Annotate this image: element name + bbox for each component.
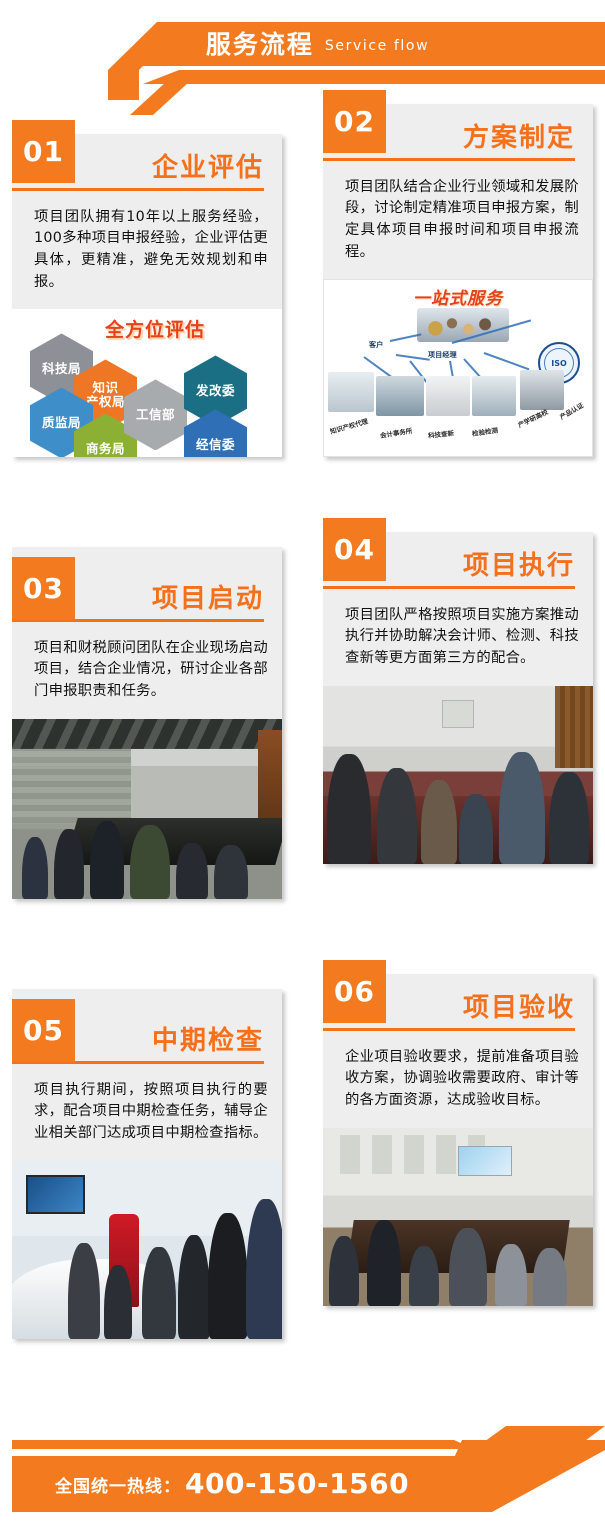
card-03-title: 项目启动: [152, 585, 264, 614]
hex-node-jingxin-wei: 经信委: [184, 409, 247, 457]
service-caption: 知识产权代理: [329, 416, 369, 436]
hexagon-infographic: 全方位评估 科技局 知识产权局 质监局 商务局 工信部 发改委 经信委: [12, 309, 282, 457]
photo-person: [130, 825, 170, 899]
header-band-secondary: [0, 70, 605, 84]
card-04-description: 项目团队严格按照项目实施方案推动执行并协助解决会计师、检测、科技查新等更方面第三…: [323, 589, 593, 686]
card-03-photo: [12, 719, 282, 899]
card-06-header: 06 项目验收 企业项目验收要求，提前准备项目验收方案，协调验收需要政府、审计等…: [323, 974, 593, 1128]
photo-projector-screen: [458, 1146, 512, 1176]
page-title: 服务流程: [206, 32, 314, 57]
photo-person: [421, 780, 457, 864]
photo-person: [68, 1243, 100, 1339]
photo-person: [533, 1248, 567, 1306]
footer-hotline-label: 全国统一热线：: [55, 1472, 181, 1497]
card-04-photo: [323, 686, 593, 864]
photo-display-screen: [26, 1175, 85, 1214]
service-caption: 科技查新: [427, 428, 454, 441]
card-01-title: 企业评估: [152, 154, 264, 183]
card-01-header: 01 企业评估 项目团队拥有10年以上服务经验，100多种项目申报经验，企业评估…: [12, 134, 282, 309]
card-05-step-badge: 05: [12, 999, 75, 1062]
card-04-header: 04 项目执行 项目团队严格按照项目实施方案推动执行并协助解决会计师、检测、科技…: [323, 532, 593, 686]
service-diagram: 一站式服务 客户 项目经理 ISO 知识产权代理 会计事务所: [323, 279, 593, 457]
photo-person: [176, 843, 208, 899]
process-card-05[interactable]: 05 中期检查 项目执行期间，按照项目执行的要求，配合项目中期检查任务，辅导企业…: [12, 989, 282, 1339]
card-06-photo: [323, 1128, 593, 1306]
page-header: 服务流程 Service flow: [0, 0, 605, 100]
card-02-step-badge: 02: [323, 90, 386, 153]
card-06-title: 项目验收: [463, 994, 575, 1023]
photo-ceiling: [12, 719, 282, 750]
service-arrow: [484, 353, 530, 371]
footer-hotline-number[interactable]: 400-150-1560: [185, 1470, 409, 1498]
photo-person: [329, 1236, 359, 1306]
process-card-06[interactable]: 06 项目验收 企业项目验收要求，提前准备项目验收方案，协调验收需要政府、审计等…: [323, 974, 593, 1306]
card-05-photo: [12, 1161, 282, 1339]
photo-air-conditioner: [442, 700, 474, 728]
card-04-step-badge: 04: [323, 518, 386, 581]
service-thumb: [472, 376, 516, 416]
photo-person: [327, 754, 371, 864]
photo-person: [499, 752, 545, 864]
card-02-header: 02 方案制定 项目团队结合企业行业领域和发展阶段，讨论制定精准项目申报方案，制…: [323, 104, 593, 279]
card-06-step-badge: 06: [323, 960, 386, 1023]
photo-person: [549, 772, 589, 864]
service-diagram-hero-photo: [417, 308, 509, 342]
service-node-customer: 客户: [369, 340, 383, 350]
card-01-step-badge: 01: [12, 120, 75, 183]
service-node-project-manager: 项目经理: [428, 350, 457, 360]
service-thumb: [520, 370, 564, 410]
photo-person: [214, 845, 248, 899]
card-02-description: 项目团队结合企业行业领域和发展阶段，讨论制定精准项目申报方案，制定具体项目申报时…: [323, 161, 593, 280]
header-title-group: 服务流程 Service flow: [0, 22, 605, 66]
service-diagram-title: 一站式服务: [324, 284, 592, 309]
photo-person: [367, 1220, 401, 1306]
photo-person: [495, 1244, 527, 1306]
footer-hotline-group: 全国统一热线： 400-150-1560: [55, 1456, 409, 1512]
photo-person: [104, 1265, 132, 1339]
service-thumb: [328, 372, 374, 412]
photo-person: [208, 1213, 248, 1339]
card-02-title: 方案制定: [463, 124, 575, 153]
service-arrow: [396, 354, 430, 361]
page-subtitle: Service flow: [325, 39, 429, 53]
card-02-media: 一站式服务 客户 项目经理 ISO 知识产权代理 会计事务所: [323, 279, 593, 457]
service-caption: 检验检测: [471, 425, 498, 439]
process-card-02[interactable]: 02 方案制定 项目团队结合企业行业领域和发展阶段，讨论制定精准项目申报方案，制…: [323, 104, 593, 457]
process-card-03[interactable]: 03 项目启动 项目和财税顾问团队在企业现场启动项目，结合企业情况，研讨企业各部…: [12, 547, 282, 899]
photo-person: [54, 829, 84, 899]
photo-person: [178, 1235, 210, 1339]
photo-person: [246, 1199, 282, 1339]
card-03-description: 项目和财税顾问团队在企业现场启动项目，结合企业情况，研讨企业各部门申报职责和任务…: [12, 622, 282, 719]
photo-person: [90, 821, 124, 899]
process-card-04[interactable]: 04 项目执行 项目团队严格按照项目实施方案推动执行并协助解决会计师、检测、科技…: [323, 532, 593, 864]
photo-person: [409, 1246, 439, 1306]
service-caption: 会计事务所: [379, 425, 413, 440]
card-05-header: 05 中期检查 项目执行期间，按照项目执行的要求，配合项目中期检查任务，辅导企业…: [12, 989, 282, 1161]
photo-person: [449, 1228, 487, 1306]
photo-person: [22, 837, 48, 899]
card-06-description: 企业项目验收要求，提前准备项目验收方案，协调验收需要政府、审计等的各方面资源，达…: [323, 1031, 593, 1128]
card-05-title: 中期检查: [152, 1027, 264, 1056]
card-03-step-badge: 03: [12, 557, 75, 620]
photo-person: [459, 794, 493, 864]
hexagon-infographic-title: 全方位评估: [105, 315, 205, 342]
card-04-title: 项目执行: [463, 552, 575, 581]
service-caption: 产学研高校: [516, 407, 550, 430]
service-thumb: [426, 376, 470, 416]
photo-person: [377, 768, 417, 864]
service-thumb: [376, 376, 424, 416]
page-footer: 全国统一热线： 400-150-1560: [0, 1426, 605, 1538]
card-01-media: 全方位评估 科技局 知识产权局 质监局 商务局 工信部 发改委 经信委: [12, 309, 282, 457]
card-03-header: 03 项目启动 项目和财税顾问团队在企业现场启动项目，结合企业情况，研讨企业各部…: [12, 547, 282, 719]
card-01-description: 项目团队拥有10年以上服务经验，100多种项目申报经验，企业评估更具体，更精准，…: [12, 191, 282, 310]
photo-wood-panel: [555, 686, 593, 768]
card-05-description: 项目执行期间，按照项目执行的要求，配合项目中期检查任务，辅导企业相关部门达成项目…: [12, 1064, 282, 1161]
photo-person: [142, 1247, 176, 1339]
photo-wall: [12, 749, 131, 828]
process-card-01[interactable]: 01 企业评估 项目团队拥有10年以上服务经验，100多种项目申报经验，企业评估…: [12, 134, 282, 457]
